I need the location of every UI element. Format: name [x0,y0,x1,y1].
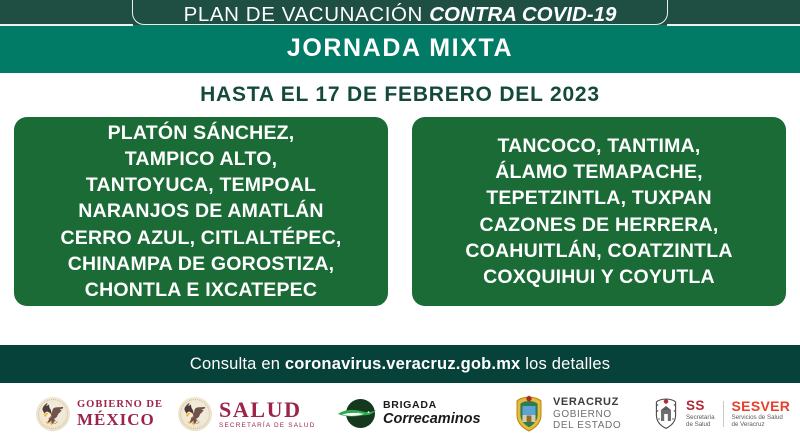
logo-divider [723,401,724,427]
gobierno-mexico-text: GOBIERNO DE MÉXICO [77,399,163,428]
footer-url[interactable]: coronavirus.veracruz.gob.mx [285,355,521,373]
roadrunner-bird-icon [337,398,377,430]
mexico-eagle-seal-icon: 🦅 [36,397,70,431]
logo-ss-sesver: SS Secretaría de Salud SESVER Servicios … [652,397,790,431]
ss-line1: SS [686,399,715,414]
municipality-list-right: TANCOCO, TANTIMA, ÁLAMO TEMAPACHE, TEPET… [465,133,732,290]
ss-line3: de Salud [686,422,715,429]
eagle-glyph-icon: 🦅 [41,405,66,425]
footer-text-before: Consulta en [190,355,285,373]
veracruz-line2: GOBIERNO [553,409,621,421]
municipality-list-left: PLATÓN SÁNCHEZ, TAMPICO ALTO, TANTOYUCA,… [60,120,341,303]
ss-text: SS Secretaría de Salud [686,399,715,428]
page-title-emphasis: CONTRA COVID-19 [429,3,616,26]
logo-gobierno-mexico: 🦅 GOBIERNO DE MÉXICO [36,397,163,431]
salud-eagle-seal-icon: 🦅 [178,397,212,431]
page-subtitle: JORNADA MIXTA [0,34,800,63]
brigada-line2: Correcaminos [383,412,481,428]
veracruz-coat-of-arms-icon [512,395,546,433]
campaign-date: HASTA EL 17 DE FEBRERO DEL 2023 [0,83,800,107]
footer-text-after: los detalles [520,355,610,373]
sesver-text: SESVER Servicios de Salud de Veracruz [732,399,791,429]
gobierno-mexico-line1: GOBIERNO DE [77,399,163,410]
brigada-bird-svg-icon [337,407,377,421]
ss-coat-of-arms-icon [652,397,680,431]
municipality-box-left: PLATÓN SÁNCHEZ, TAMPICO ALTO, TANTOYUCA,… [14,117,388,306]
footer-message: Consulta en coronavirus.veracruz.gob.mx … [190,355,610,374]
veracruz-text: VERACRUZ GOBIERNO DEL ESTADO [553,396,621,433]
veracruz-line3: DEL ESTADO [553,420,621,432]
brigada-text: BRIGADA Correcaminos [383,400,481,428]
logo-salud: 🦅 SALUD SECRETARÍA DE SALUD [178,397,316,431]
veracruz-line1: VERACRUZ [553,396,621,409]
municipality-box-right: TANCOCO, TANTIMA, ÁLAMO TEMAPACHE, TEPET… [412,117,786,306]
salud-line1: SALUD [219,398,316,421]
page-title: PLAN DE VACUNACIÓN CONTRA COVID-19 [0,3,800,27]
logo-brigada-correcaminos: BRIGADA Correcaminos [337,398,481,430]
municipality-boxes: PLATÓN SÁNCHEZ, TAMPICO ALTO, TANTOYUCA,… [0,117,800,312]
brigada-line1: BRIGADA [383,400,481,411]
eagle-glyph-icon: 🦅 [183,405,208,425]
page-title-prefix: PLAN DE VACUNACIÓN [184,3,430,26]
footer-band: Consulta en coronavirus.veracruz.gob.mx … [0,345,800,383]
salud-line2: SECRETARÍA DE SALUD [219,423,316,430]
sesver-line1: SESVER [732,399,791,414]
header-band: PLAN DE VACUNACIÓN CONTRA COVID-19 JORNA… [0,0,800,73]
logo-strip: 🦅 GOBIERNO DE MÉXICO 🦅 SALUD SECRETARÍA … [0,383,800,445]
sesver-line3: de Veracruz [732,422,791,429]
gobierno-mexico-line2: MÉXICO [77,411,163,429]
logo-veracruz-estado: VERACRUZ GOBIERNO DEL ESTADO [512,395,621,433]
salud-text: SALUD SECRETARÍA DE SALUD [219,398,316,430]
